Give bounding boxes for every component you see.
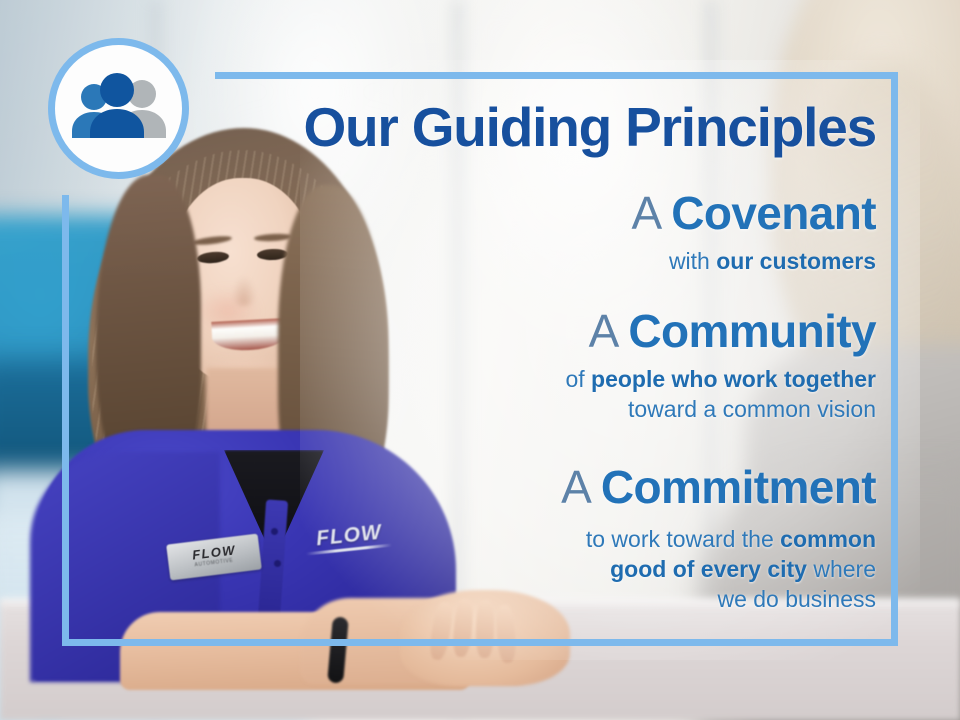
principle-article: A bbox=[631, 187, 671, 239]
principle-commitment-subtext: to work toward the common good of every … bbox=[40, 525, 876, 615]
principle-keyword: Covenant bbox=[671, 187, 876, 239]
subtext-line: with our customers bbox=[40, 247, 876, 277]
principle-keyword: Community bbox=[628, 305, 876, 357]
subtext-part-bold: our customers bbox=[716, 248, 876, 274]
principle-covenant-subtext: with our customers bbox=[40, 247, 876, 277]
principle-commitment-heading: A Commitment bbox=[40, 464, 876, 511]
content-area: Our Guiding Principles A Covenant with o… bbox=[62, 72, 898, 646]
subtext-part-bold: people who work together bbox=[591, 366, 876, 392]
guiding-principles-poster: FLOW AUTOMOTIVE FLOW bbox=[0, 0, 960, 720]
principle-community-heading: A Community bbox=[40, 308, 876, 355]
subtext-part: of bbox=[565, 366, 591, 392]
subtext-line: good of every city where bbox=[40, 555, 876, 585]
principle-article: A bbox=[561, 461, 601, 513]
principle-commitment: A Commitment to work toward the common g… bbox=[40, 464, 876, 615]
subtext-line: of people who work together bbox=[40, 365, 876, 395]
subtext-line: to work toward the common bbox=[40, 525, 876, 555]
principle-keyword: Commitment bbox=[601, 461, 876, 513]
principle-community: A Community of people who work together … bbox=[40, 308, 876, 425]
subtext-part: with bbox=[669, 248, 716, 274]
subtext-line: we do business bbox=[40, 585, 876, 615]
principle-community-subtext: of people who work together toward a com… bbox=[40, 365, 876, 425]
subtext-part-bold: good of every city bbox=[610, 556, 807, 582]
subtext-part-bold: common bbox=[780, 526, 876, 552]
subtext-part: where bbox=[807, 556, 876, 582]
principle-article: A bbox=[589, 305, 629, 357]
subtext-line: toward a common vision bbox=[40, 395, 876, 425]
principle-covenant-heading: A Covenant bbox=[40, 190, 876, 237]
principle-covenant: A Covenant with our customers bbox=[40, 190, 876, 277]
page-title: Our Guiding Principles bbox=[62, 100, 876, 155]
subtext-part: to work toward the bbox=[586, 526, 780, 552]
